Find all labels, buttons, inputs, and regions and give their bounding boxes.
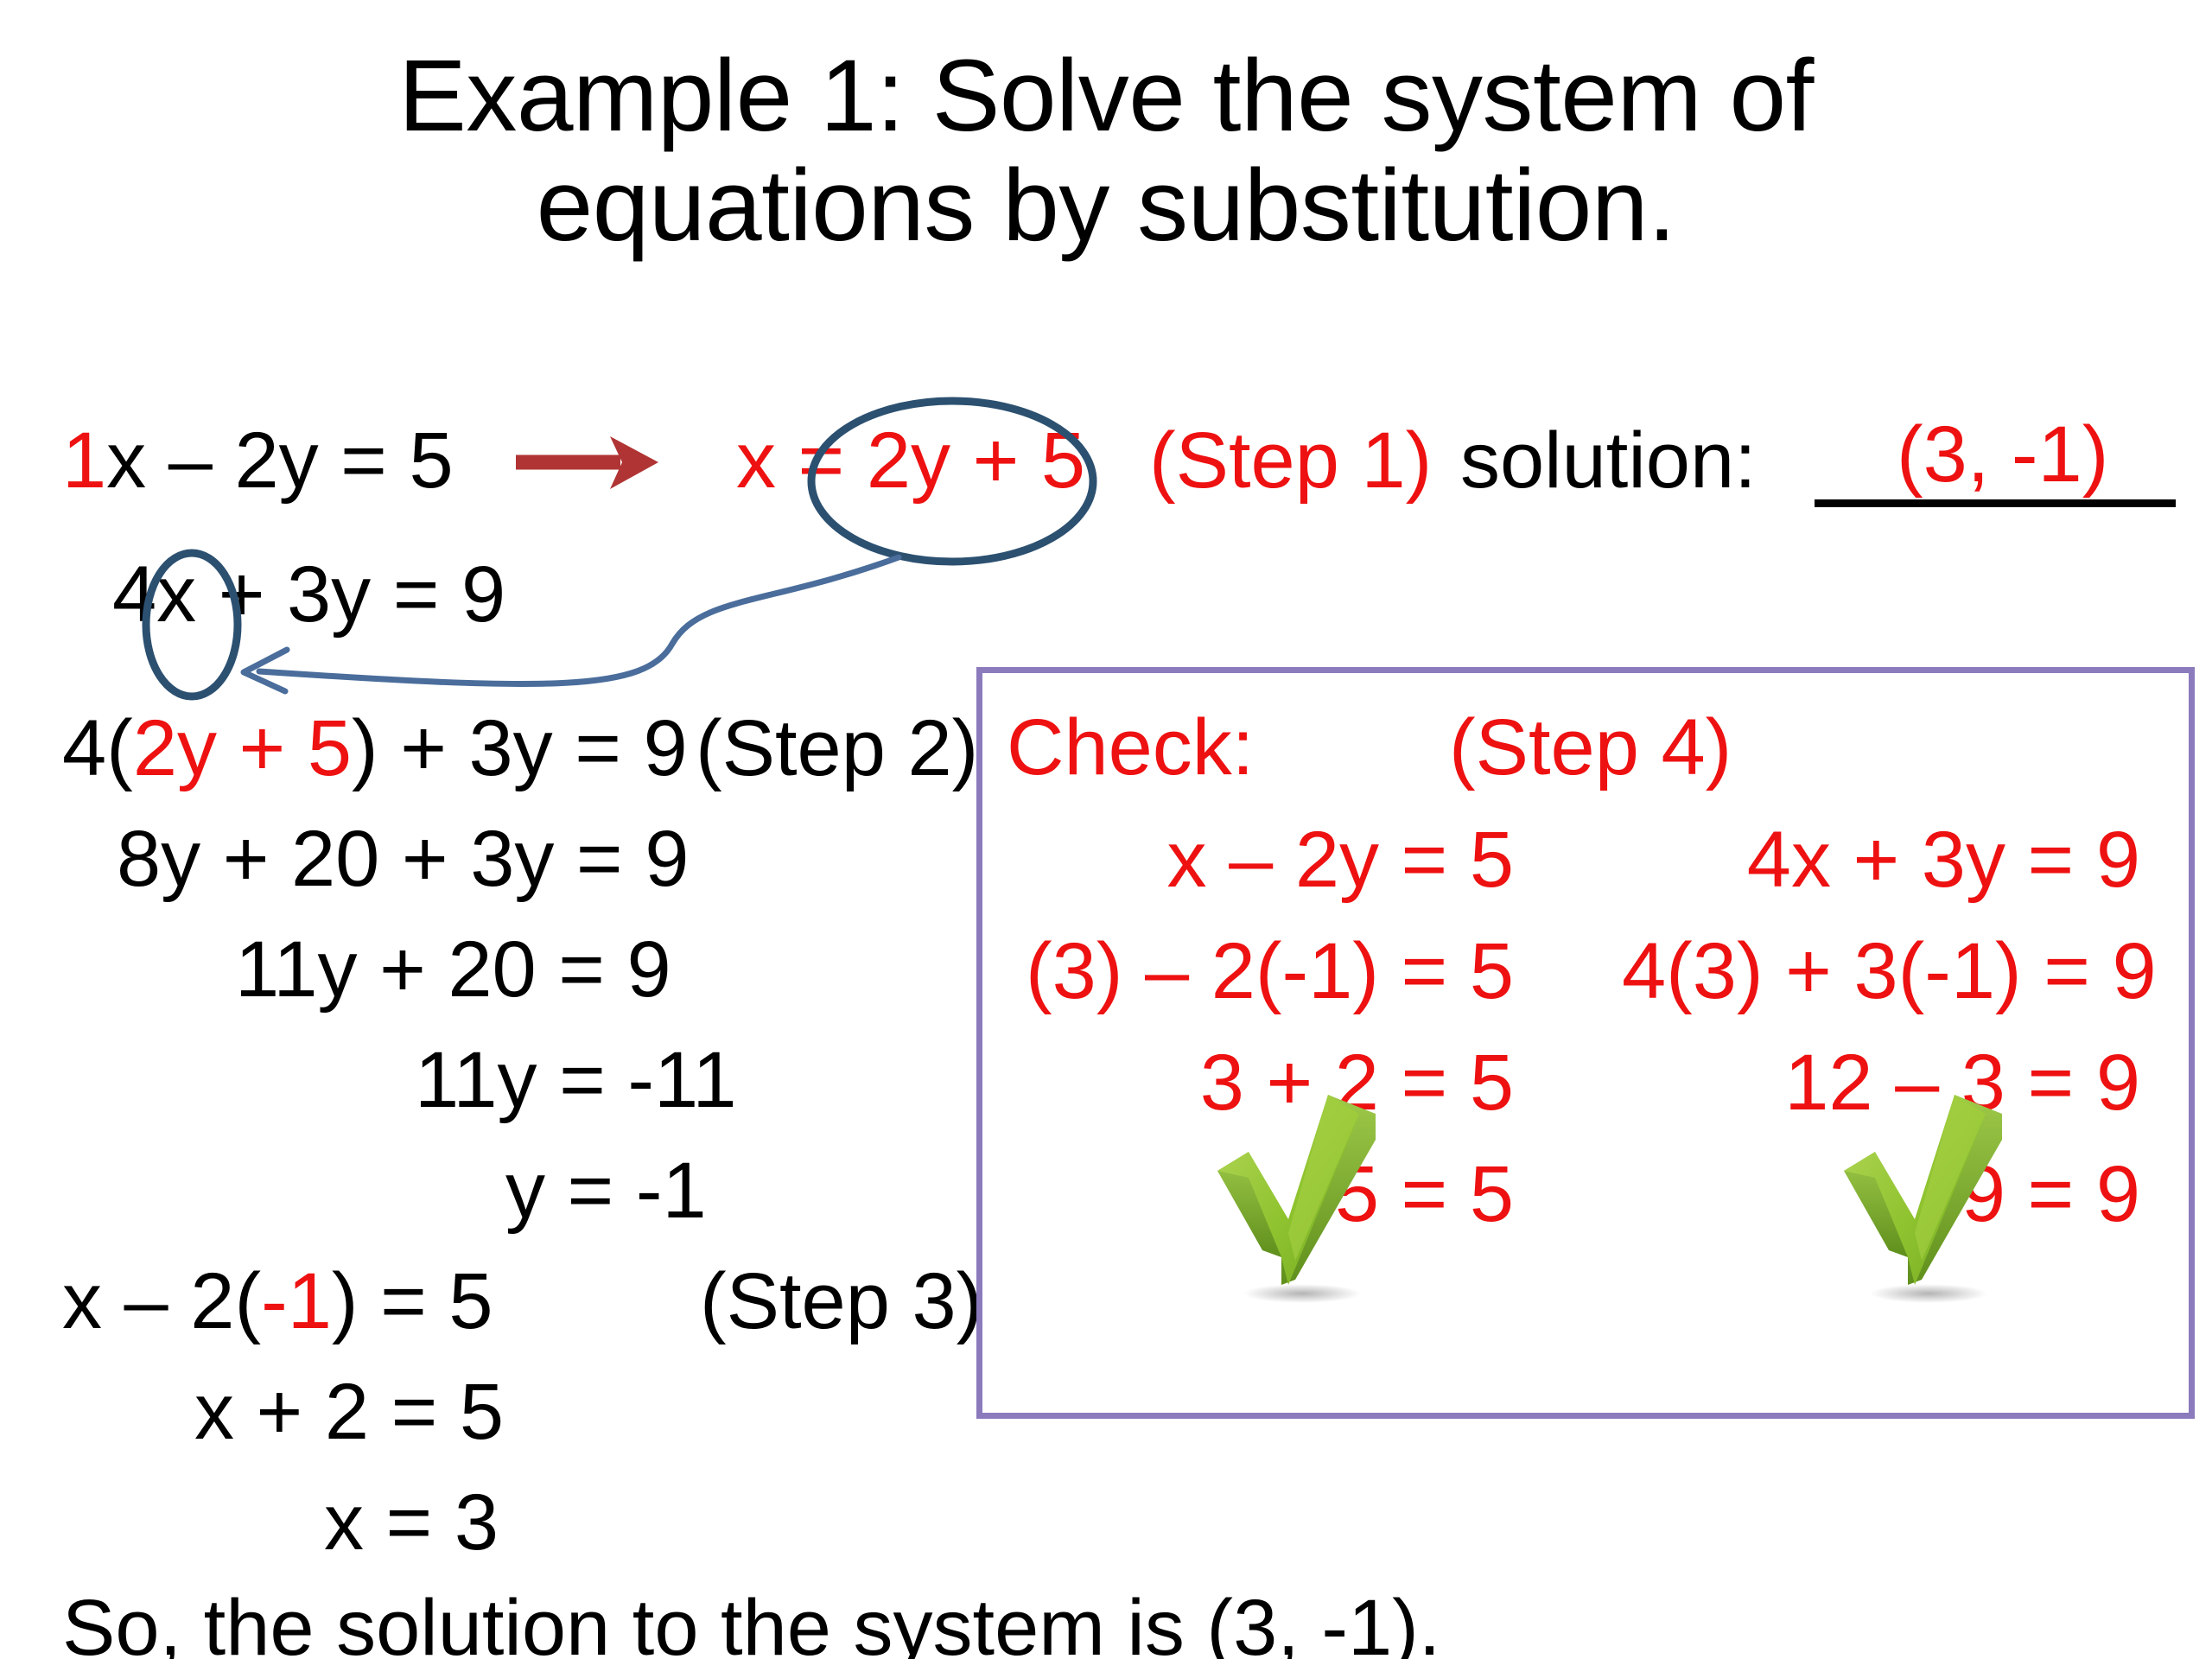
equation-one-solved: x = 2y + 5	[736, 421, 1085, 500]
check-right-line-1: 4x + 3y = 9	[1622, 820, 2140, 899]
work-line-6-highlight: -1	[261, 1257, 332, 1345]
work-line-4: 11y = -11	[415, 1040, 737, 1120]
work-line-7: x + 2 = 5	[194, 1372, 504, 1452]
step-3-label: (Step 3)	[700, 1262, 982, 1341]
work-line-6: x – 2(-1) = 5	[62, 1262, 493, 1341]
step-1-label: (Step 1)	[1149, 421, 1432, 500]
solution-value: (3, -1)	[1897, 415, 2108, 494]
check-right-line-2: 4(3) + 3(-1) = 9	[1622, 931, 2140, 1011]
work-line-5: y = -1	[505, 1151, 707, 1230]
check-mark-icon	[1198, 1088, 1406, 1304]
right-arrow-icon	[516, 436, 658, 489]
equation-one: 1x – 2y = 5	[62, 421, 454, 500]
step-4-label: (Step 4)	[1449, 708, 1732, 787]
check-box: Check: (Step 4) x – 2y = 5 (3) – 2(-1) =…	[976, 667, 2195, 1419]
solution-underline	[1815, 499, 2176, 507]
equation-two: 4x + 3y = 9	[112, 555, 505, 634]
work-line-1-prefix: 4(	[62, 704, 133, 792]
work-line-3: 11y + 20 = 9	[235, 930, 671, 1009]
step-2-label: (Step 2)	[696, 709, 978, 788]
work-line-1: 4(2y + 5) + 3y = 9	[62, 709, 688, 788]
work-line-8: x = 3	[324, 1483, 499, 1562]
check-title: Check:	[1007, 708, 1254, 787]
solution-label: solution:	[1460, 421, 1757, 500]
work-line-1-suffix: ) + 3y = 9	[352, 704, 688, 792]
work-line-1-highlight: 2y + 5	[133, 704, 352, 792]
slide-canvas: Example 1: Solve the system of equations…	[0, 0, 2212, 1659]
page-title: Example 1: Solve the system of equations…	[0, 41, 2212, 262]
work-line-6-suffix: ) = 5	[332, 1257, 493, 1345]
equation-one-coefficient: 1	[62, 416, 106, 505]
conclusion-text: So, the solution to the system is (3, -1…	[62, 1588, 1440, 1659]
check-left-line-2: (3) – 2(-1) = 5	[995, 931, 1514, 1011]
check-left-line-1: x – 2y = 5	[995, 820, 1514, 899]
equation-one-rest: x – 2y = 5	[106, 416, 453, 505]
work-line-2: 8y + 20 + 3y = 9	[117, 819, 689, 899]
work-line-6-prefix: x – 2(	[62, 1257, 261, 1345]
check-mark-icon	[1825, 1088, 2032, 1304]
